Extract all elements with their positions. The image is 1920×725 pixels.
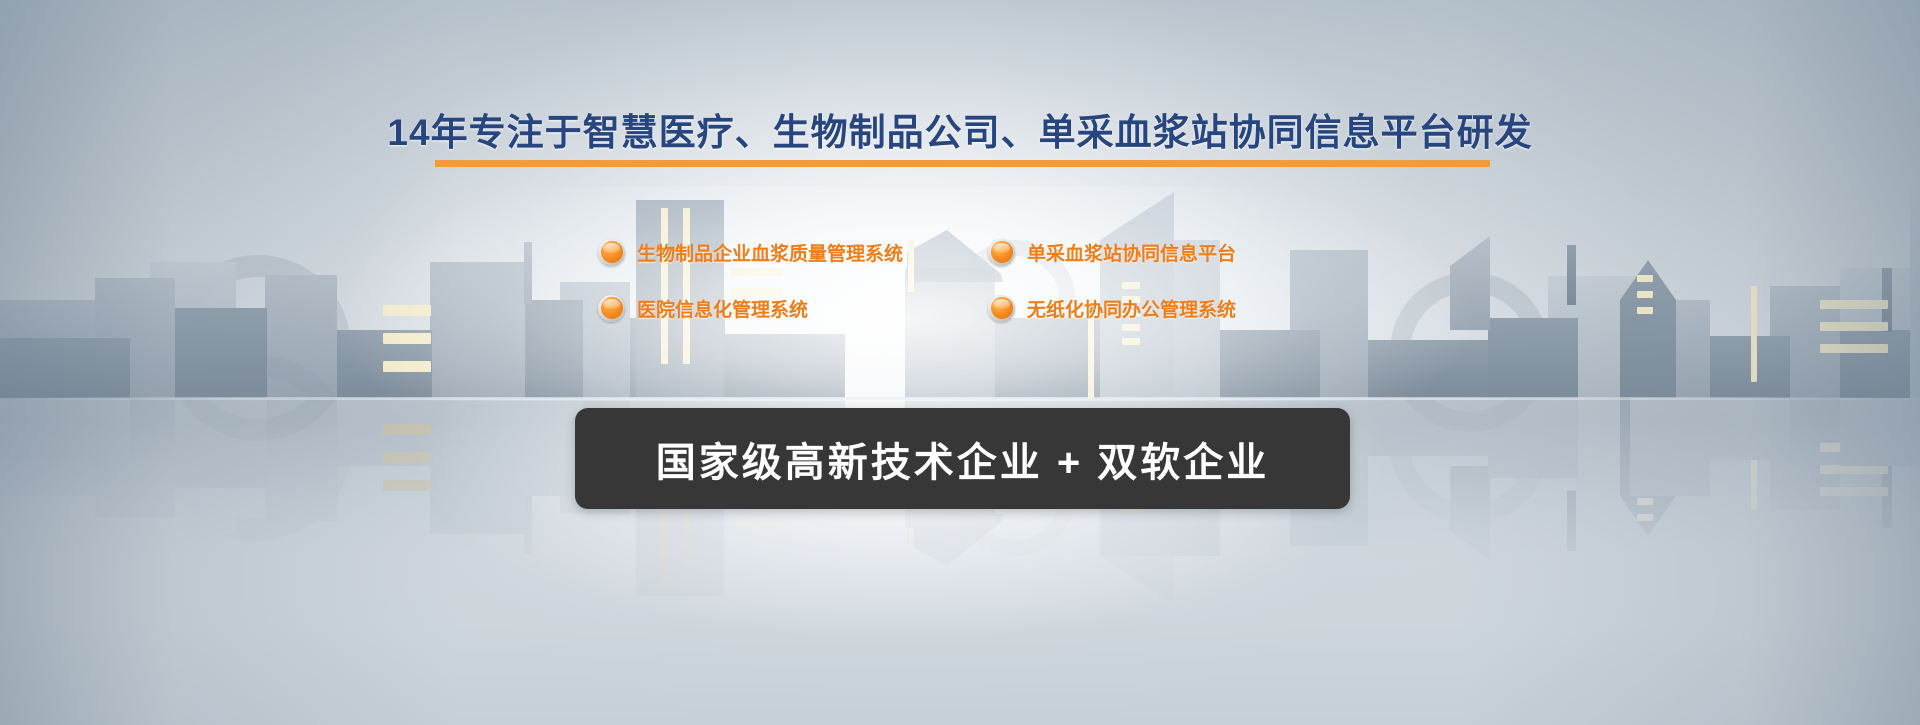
feature-row: 医院信息化管理系统 无纸化协同办公管理系统 bbox=[598, 280, 1318, 336]
orange-sphere-bullet-icon bbox=[598, 239, 625, 266]
feature-list: 生物制品企业血浆质量管理系统 单采血浆站协同信息平台 医院信息化管理系统 无纸化… bbox=[598, 224, 1318, 336]
feature-label: 医院信息化管理系统 bbox=[637, 295, 808, 322]
feature-label: 无纸化协同办公管理系统 bbox=[1027, 295, 1236, 322]
banner-headline: 14年专注于智慧医疗、生物制品公司、单采血浆站协同信息平台研发 bbox=[0, 102, 1920, 156]
feature-item[interactable]: 生物制品企业血浆质量管理系统 bbox=[598, 239, 988, 266]
promo-banner: 14年专注于智慧医疗、生物制品公司、单采血浆站协同信息平台研发 生物制品企业血浆… bbox=[0, 0, 1920, 725]
feature-item[interactable]: 无纸化协同办公管理系统 bbox=[988, 295, 1318, 322]
certification-badge-text: 国家级高新技术企业 + 双软企业 bbox=[656, 430, 1270, 488]
feature-label: 生物制品企业血浆质量管理系统 bbox=[637, 239, 903, 266]
banner-content: 14年专注于智慧医疗、生物制品公司、单采血浆站协同信息平台研发 生物制品企业血浆… bbox=[0, 0, 1920, 725]
feature-item[interactable]: 医院信息化管理系统 bbox=[598, 295, 988, 322]
headline-underline-rule bbox=[435, 160, 1490, 167]
orange-sphere-bullet-icon bbox=[988, 295, 1015, 322]
certification-badge: 国家级高新技术企业 + 双软企业 bbox=[575, 408, 1350, 509]
feature-row: 生物制品企业血浆质量管理系统 单采血浆站协同信息平台 bbox=[598, 224, 1318, 280]
orange-sphere-bullet-icon bbox=[988, 239, 1015, 266]
feature-item[interactable]: 单采血浆站协同信息平台 bbox=[988, 239, 1318, 266]
feature-label: 单采血浆站协同信息平台 bbox=[1027, 239, 1236, 266]
orange-sphere-bullet-icon bbox=[598, 295, 625, 322]
